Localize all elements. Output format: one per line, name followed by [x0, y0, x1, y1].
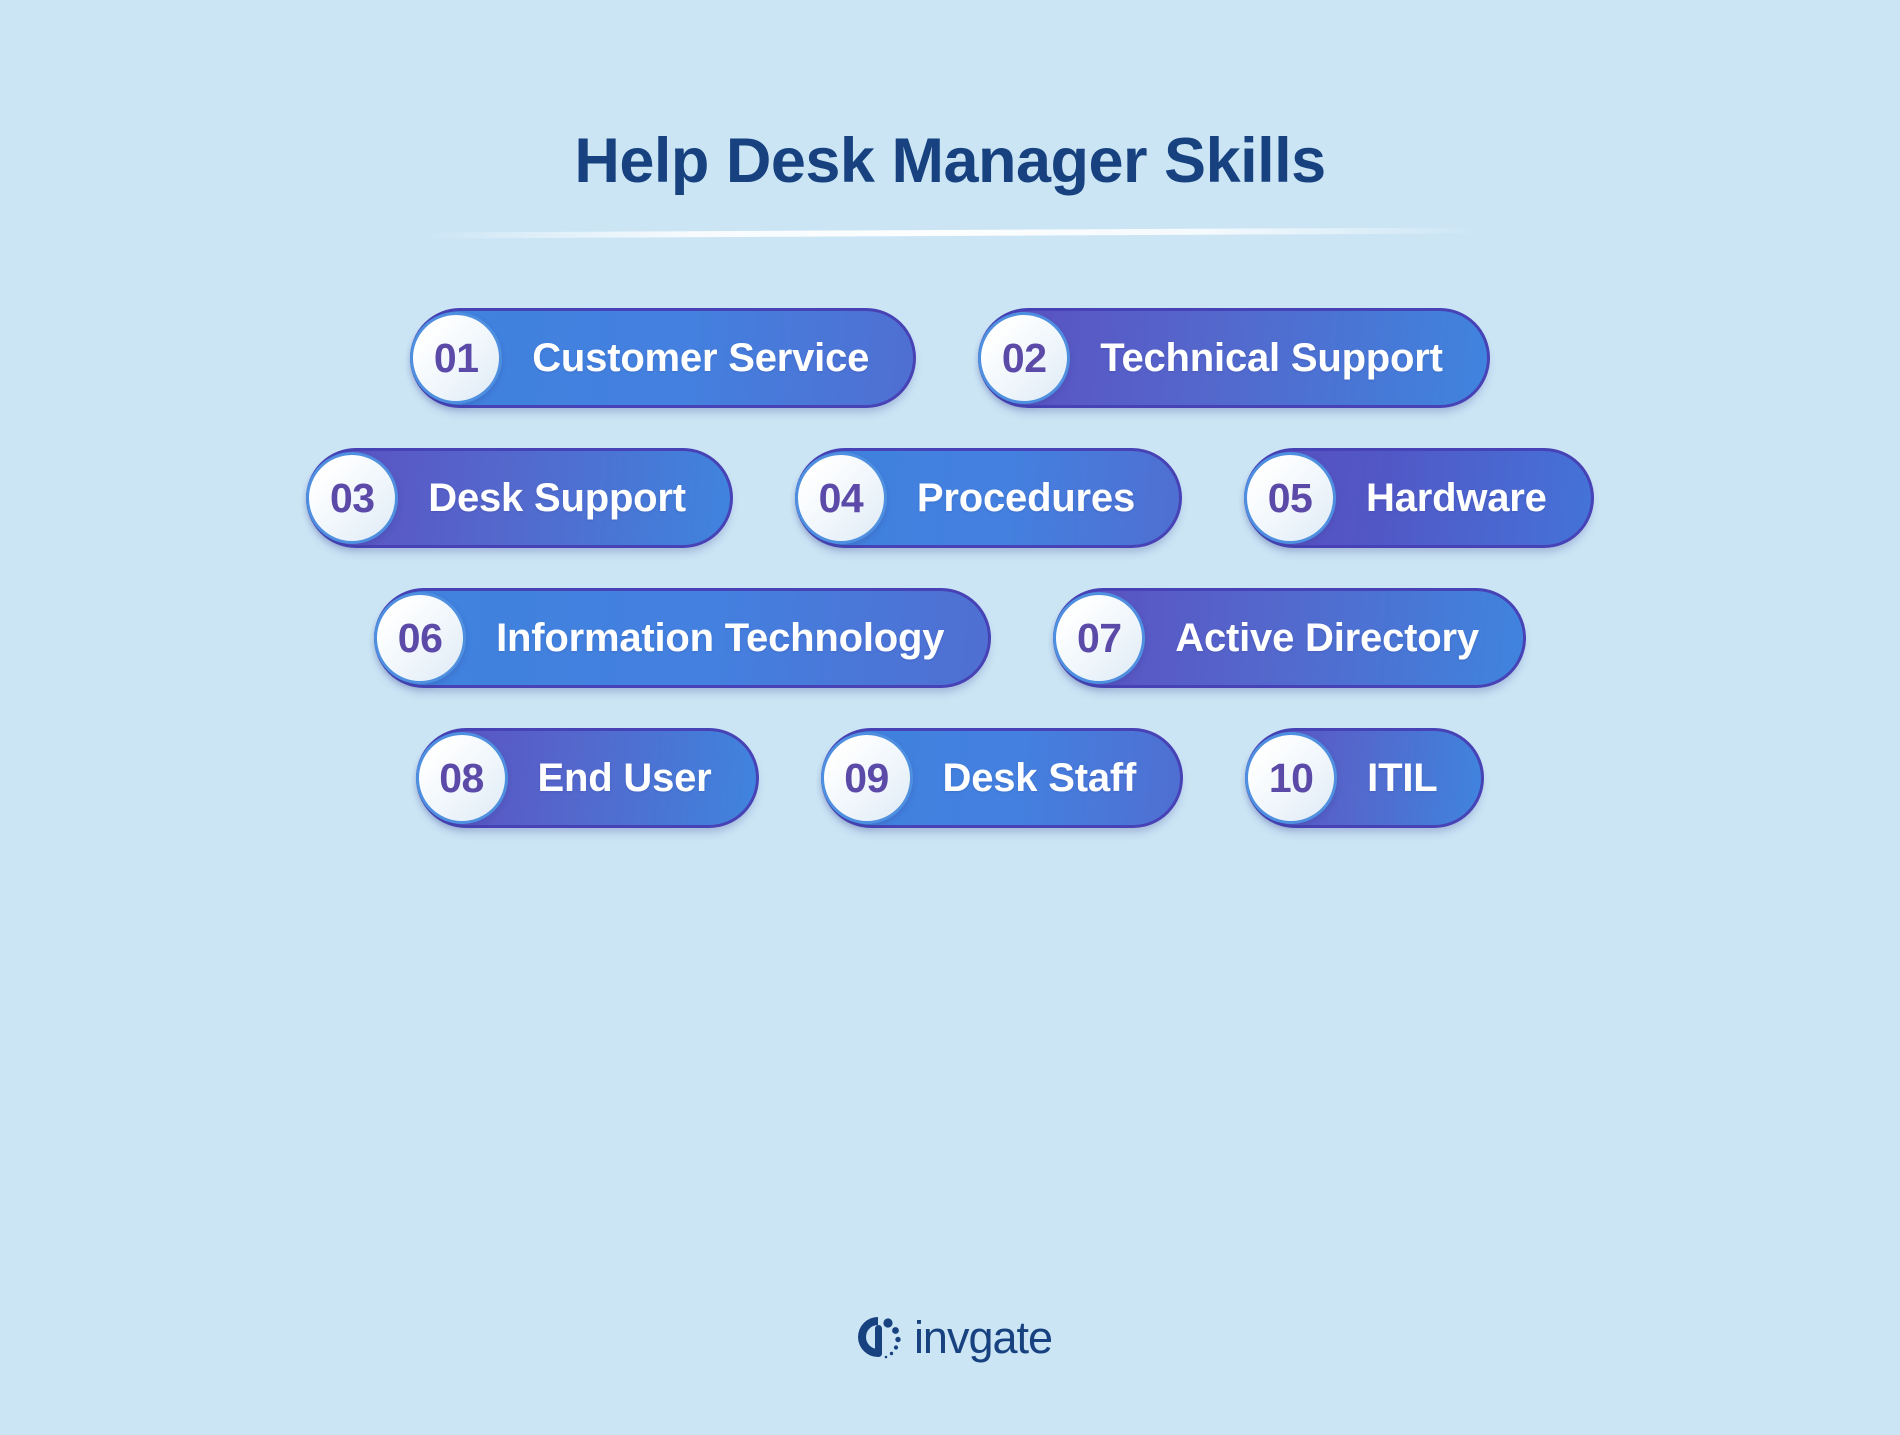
skill-pill-08[interactable]: 08End User — [416, 728, 759, 828]
skills-row: 01Customer Service02Technical Support — [410, 308, 1490, 408]
skill-number-badge: 06 — [374, 592, 466, 684]
skills-list: 01Customer Service02Technical Support03D… — [0, 308, 1900, 828]
skill-number: 03 — [330, 478, 375, 519]
skill-label: Hardware — [1336, 478, 1547, 518]
skill-label: Active Directory — [1145, 618, 1479, 658]
skill-pill-06[interactable]: 06Information Technology — [374, 588, 991, 688]
skill-pill-09[interactable]: 09Desk Staff — [821, 728, 1184, 828]
skill-number: 01 — [434, 338, 479, 379]
title-block: Help Desk Manager Skills — [0, 128, 1900, 236]
skills-row: 06Information Technology07Active Directo… — [374, 588, 1526, 688]
skill-pill-01[interactable]: 01Customer Service — [410, 308, 916, 408]
invgate-wordmark: invgate — [914, 1315, 1052, 1360]
skill-label: ITIL — [1337, 758, 1437, 798]
skill-number-badge: 09 — [821, 732, 913, 824]
title-divider — [417, 228, 1482, 239]
skill-number: 10 — [1269, 758, 1314, 799]
skill-number-badge: 05 — [1244, 452, 1336, 544]
skills-row: 08End User09Desk Staff10ITIL — [416, 728, 1485, 828]
skill-label: Customer Service — [502, 338, 869, 378]
skill-label: Information Technology — [466, 618, 944, 658]
skill-pill-10[interactable]: 10ITIL — [1245, 728, 1484, 828]
invgate-logo: invgate — [848, 1311, 1052, 1363]
skill-number: 04 — [819, 478, 864, 519]
skill-label: Desk Staff — [913, 758, 1137, 798]
page-title: Help Desk Manager Skills — [0, 128, 1900, 194]
skill-number: 08 — [439, 758, 484, 799]
skills-row: 03Desk Support04Procedures05Hardware — [306, 448, 1593, 548]
skill-label: Procedures — [887, 478, 1135, 518]
skill-pill-05[interactable]: 05Hardware — [1244, 448, 1594, 548]
skill-number-badge: 04 — [795, 452, 887, 544]
skill-label: Technical Support — [1070, 338, 1443, 378]
skill-number: 07 — [1077, 618, 1122, 659]
footer: invgate — [0, 1311, 1900, 1363]
skill-number-badge: 10 — [1245, 732, 1337, 824]
skill-number: 02 — [1002, 338, 1047, 379]
infographic-canvas: Help Desk Manager Skills 01Customer Serv… — [0, 0, 1900, 1435]
skill-number-badge: 03 — [306, 452, 398, 544]
skill-number: 09 — [844, 758, 889, 799]
skill-number-badge: 02 — [978, 312, 1070, 404]
skill-number-badge: 08 — [416, 732, 508, 824]
skill-pill-02[interactable]: 02Technical Support — [978, 308, 1490, 408]
skill-pill-07[interactable]: 07Active Directory — [1053, 588, 1526, 688]
skill-number: 05 — [1268, 478, 1313, 519]
skill-pill-04[interactable]: 04Procedures — [795, 448, 1182, 548]
skill-label: End User — [508, 758, 712, 798]
invgate-logomark-icon — [848, 1311, 904, 1363]
skill-number: 06 — [398, 618, 443, 659]
skill-number-badge: 07 — [1053, 592, 1145, 684]
skill-number-badge: 01 — [410, 312, 502, 404]
skill-pill-03[interactable]: 03Desk Support — [306, 448, 733, 548]
skill-label: Desk Support — [398, 478, 686, 518]
